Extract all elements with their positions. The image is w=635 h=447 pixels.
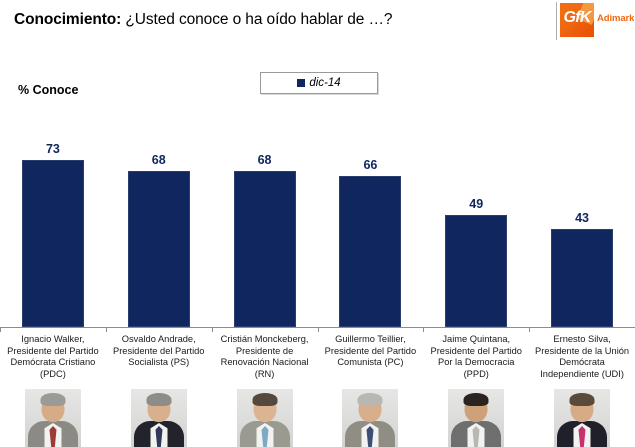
axis-tick: [318, 328, 319, 332]
bar[interactable]: [551, 229, 613, 327]
bar-value-label: 68: [212, 153, 318, 167]
bar-value-label: 49: [423, 197, 529, 211]
axis-tick: [0, 328, 1, 332]
category-label-line: Jaime Quintana,: [425, 334, 527, 346]
category-label-line: Renovación Nacional: [214, 357, 316, 369]
bar-group: 66: [318, 46, 424, 328]
category-label-line: Presidente de: [214, 346, 316, 358]
category-label-line: Socialista (PS): [108, 357, 210, 369]
photo-hair: [570, 393, 595, 406]
bar-group: 73: [0, 46, 106, 328]
bar[interactable]: [128, 171, 190, 327]
gfk-logo-mark: GfK: [560, 3, 594, 37]
header: Conocimiento: ¿Usted conoce o ha oído ha…: [0, 0, 635, 46]
axis-tick: [423, 328, 424, 332]
category-label: Cristián Monckeberg,Presidente deRenovac…: [214, 334, 316, 380]
bar-group: 68: [106, 46, 212, 328]
candidate-photo: [342, 389, 398, 447]
category-label-line: Ernesto Silva,: [531, 334, 633, 346]
page-title: Conocimiento: ¿Usted conoce o ha oído ha…: [14, 11, 392, 29]
candidate-photo: [448, 389, 504, 447]
category-label: Jaime Quintana,Presidente del PartidoPor…: [425, 334, 527, 380]
photo-hair: [253, 393, 278, 406]
axis-tick: [212, 328, 213, 332]
bar-value-label: 73: [0, 142, 106, 156]
bar-value-label: 43: [529, 211, 635, 225]
category-label-line: Comunista (PC): [320, 357, 422, 369]
category-label-line: Presidente del Partido: [320, 346, 422, 358]
photo-hair: [464, 393, 489, 406]
axis-tick: [106, 328, 107, 332]
category-label-line: (PPD): [425, 369, 527, 381]
category-label-line: (RN): [214, 369, 316, 381]
bar-group: 68: [212, 46, 318, 328]
bar-group: 49: [423, 46, 529, 328]
category-label-line: Demócrata: [531, 357, 633, 369]
bar[interactable]: [445, 215, 507, 327]
bar[interactable]: [339, 176, 401, 327]
adimark-logo-text: Adimark: [597, 13, 634, 24]
category-label-line: Presidente del Partido: [2, 346, 104, 358]
photo-hair: [358, 393, 383, 406]
candidate-photo: [131, 389, 187, 447]
photo-hair: [147, 393, 172, 406]
category-label-line: Demócrata Cristiano: [2, 357, 104, 369]
logo-divider: [556, 2, 557, 40]
category-label: Osvaldo Andrade,Presidente del PartidoSo…: [108, 334, 210, 369]
axis-tick: [529, 328, 530, 332]
category-label-line: Cristián Monckeberg,: [214, 334, 316, 346]
category-label-line: (PDC): [2, 369, 104, 381]
bar-group: 43: [529, 46, 635, 328]
candidate-photos: [0, 389, 635, 447]
gfk-logo-text: GfK: [560, 9, 594, 27]
category-label-line: Independiente (UDI): [531, 369, 633, 381]
bar-chart: % Conoce dic-14 736868664943 Ignacio Wal…: [0, 46, 635, 447]
bar-value-label: 68: [106, 153, 212, 167]
candidate-photo: [25, 389, 81, 447]
page-title-rest: ¿Usted conoce o ha oído hablar de …?: [125, 11, 392, 28]
category-labels: Ignacio Walker,Presidente del PartidoDem…: [0, 334, 635, 388]
category-label-line: Presidente del Partido: [108, 346, 210, 358]
photo-hair: [41, 393, 66, 406]
category-label-line: Por la Democracia: [425, 357, 527, 369]
bar-value-label: 66: [318, 158, 424, 172]
category-label-line: Guillermo Teillier,: [320, 334, 422, 346]
category-label-line: Osvaldo Andrade,: [108, 334, 210, 346]
plot-area: 736868664943: [0, 46, 635, 328]
category-label-line: Presidente de la Unión: [531, 346, 633, 358]
candidate-photo: [237, 389, 293, 447]
bar[interactable]: [234, 171, 296, 327]
category-label: Ernesto Silva,Presidente de la UniónDemó…: [531, 334, 633, 380]
category-label: Guillermo Teillier,Presidente del Partid…: [320, 334, 422, 369]
category-label-line: Ignacio Walker,: [2, 334, 104, 346]
gfk-adimark-logo: GfK Adimark: [556, 2, 632, 40]
bar[interactable]: [22, 160, 84, 327]
category-label: Ignacio Walker,Presidente del PartidoDem…: [2, 334, 104, 380]
category-label-line: Presidente del Partido: [425, 346, 527, 358]
page-title-strong: Conocimiento:: [14, 11, 121, 28]
candidate-photo: [554, 389, 610, 447]
